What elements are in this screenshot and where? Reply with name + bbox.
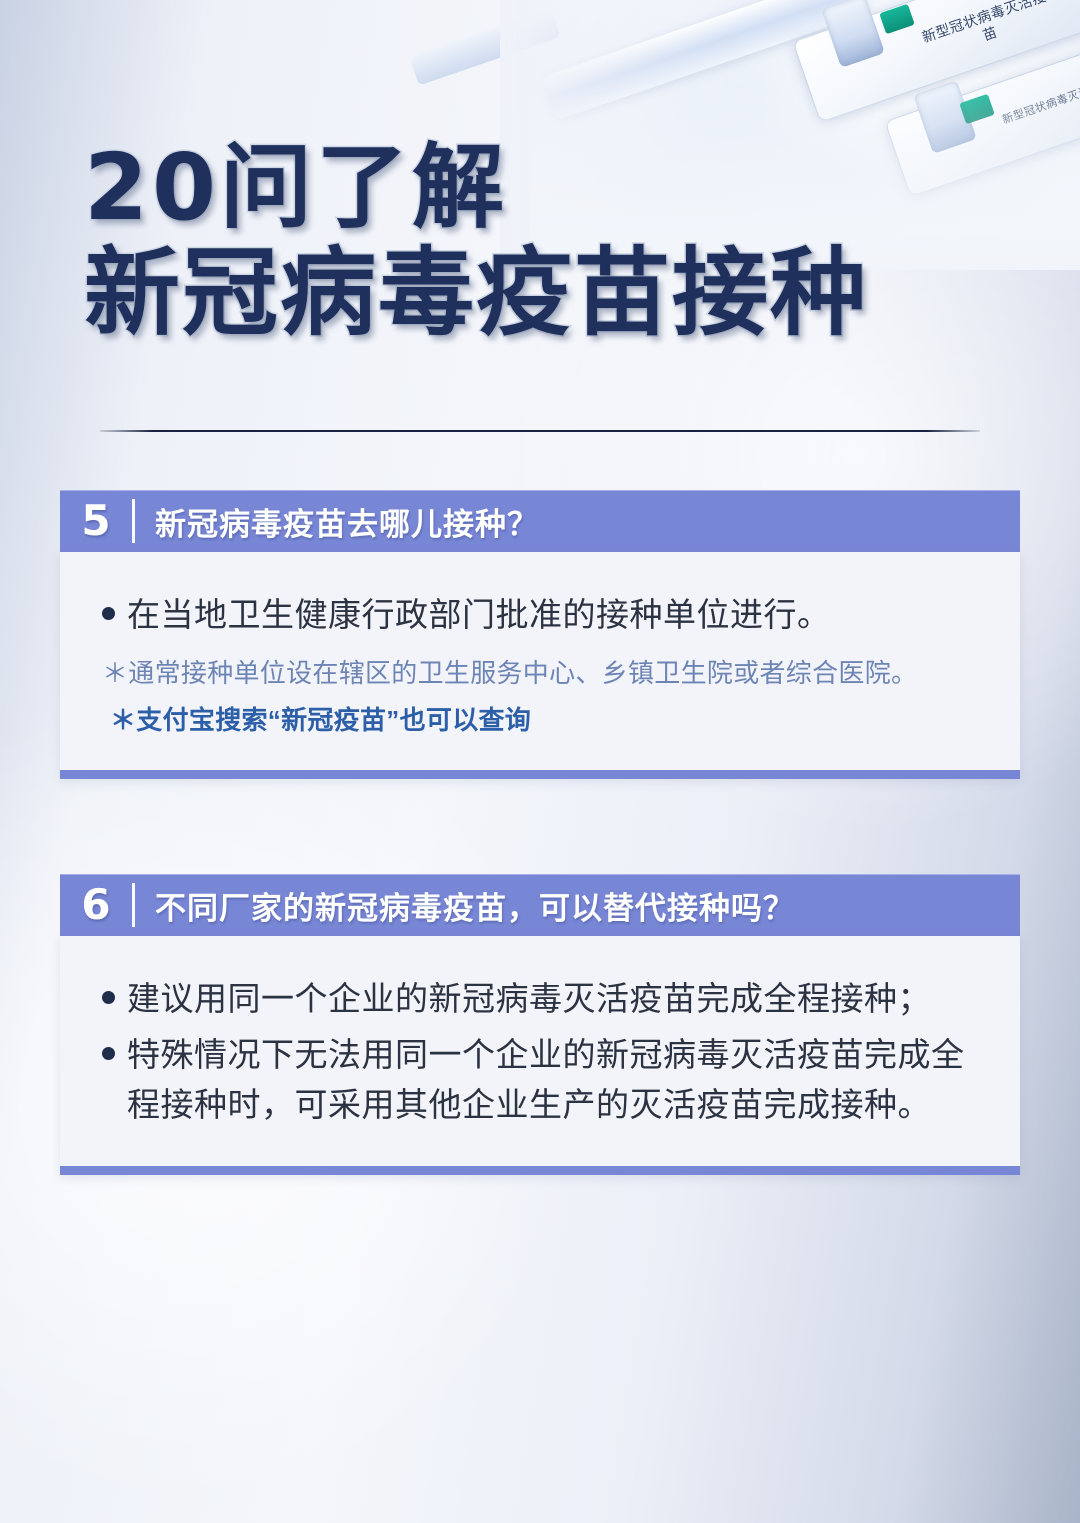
hero-section: 新型冠状病毒灭活疫 苗 新型冠状病毒灭活疫苗 20问了解 新冠病毒疫苗接种	[0, 0, 1080, 430]
question-text-6: 不同厂家的新冠病毒疫苗，可以替代接种吗？	[155, 883, 795, 928]
question-number-5: 5	[60, 500, 132, 542]
question-header-5: 5 新冠病毒疫苗去哪儿接种？	[60, 490, 1020, 552]
poster-background: 新型冠状病毒灭活疫 苗 新型冠状病毒灭活疫苗 20问了解 新冠病毒疫苗接种 5 …	[0, 0, 1080, 1523]
title-line-2: 新冠病毒疫苗接种	[84, 243, 868, 344]
answer-card-5: 在当地卫生健康行政部门批准的接种单位进行。 ＊通常接种单位设在辖区的卫生服务中心…	[60, 552, 1020, 779]
poster-title: 20问了解 新冠病毒疫苗接种	[84, 140, 868, 343]
question-divider-6	[132, 883, 135, 927]
bullet-dot-icon	[102, 1047, 115, 1060]
qa-block-6: 6 不同厂家的新冠病毒疫苗，可以替代接种吗？ 建议用同一个企业的新冠病毒灭活疫苗…	[60, 874, 1020, 1175]
title-divider	[100, 430, 980, 432]
answer-note-1: ＊通常接种单位设在辖区的卫生服务中心、乡镇卫生院或者综合医院。	[102, 654, 978, 693]
bullet-dot-icon	[102, 607, 115, 620]
question-number-6: 6	[60, 884, 132, 926]
answer-card-6: 建议用同一个企业的新冠病毒灭活疫苗完成全程接种； 特殊情况下无法用同一个企业的新…	[60, 936, 1020, 1175]
answer-bullet-text: 在当地卫生健康行政部门批准的接种单位进行。	[127, 590, 831, 640]
answer-note-2: ＊支付宝搜索“新冠疫苗”也可以查询	[102, 701, 978, 740]
answer-bullet-row: 特殊情况下无法用同一个企业的新冠病毒灭活疫苗完成全程接种时，可采用其他企业生产的…	[102, 1030, 978, 1130]
question-text-5: 新冠病毒疫苗去哪儿接种？	[155, 499, 539, 544]
answer-bullet-row: 建议用同一个企业的新冠病毒灭活疫苗完成全程接种；	[102, 974, 978, 1024]
question-header-6: 6 不同厂家的新冠病毒疫苗，可以替代接种吗？	[60, 874, 1020, 936]
answer-bullet-text: 特殊情况下无法用同一个企业的新冠病毒灭活疫苗完成全程接种时，可采用其他企业生产的…	[127, 1030, 978, 1130]
title-line-1: 20问了解	[84, 140, 868, 237]
question-divider-5	[132, 499, 135, 543]
answer-bullet-row: 在当地卫生健康行政部门批准的接种单位进行。	[102, 590, 978, 640]
qa-block-5: 5 新冠病毒疫苗去哪儿接种？ 在当地卫生健康行政部门批准的接种单位进行。 ＊通常…	[60, 490, 1020, 779]
bullet-dot-icon	[102, 991, 115, 1004]
answer-bullet-text: 建议用同一个企业的新冠病毒灭活疫苗完成全程接种；	[127, 974, 931, 1024]
